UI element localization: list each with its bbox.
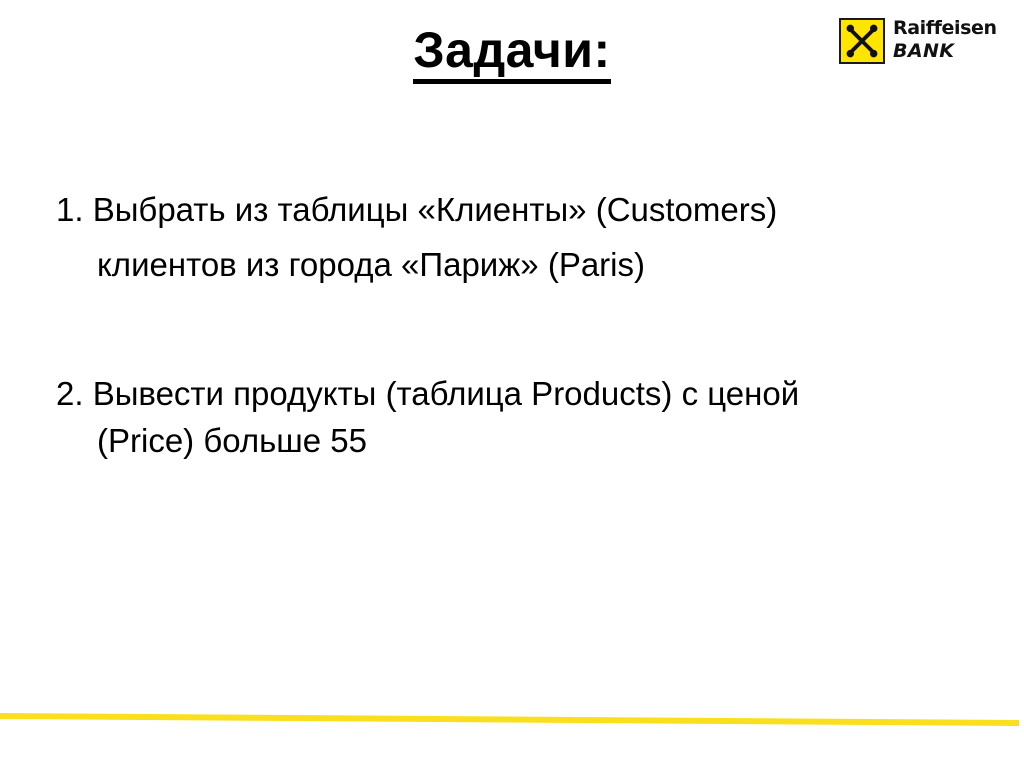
slide-body: 1. Выбрать из таблицы «Клиенты» (Custome… (0, 182, 1024, 464)
task-item-2: 2. Вывести продукты (таблица Products) с… (56, 370, 1024, 464)
raiffeisen-bank-logo: Raiffeisen BANK (839, 16, 1011, 66)
task-1-line-2: клиентов из города «Париж» (Paris) (56, 237, 1024, 292)
logo-name-text: Raiffeisen (893, 16, 1013, 40)
task-2-line-2: (Price) больше 55 (56, 417, 1024, 464)
page-title: Задачи: (413, 22, 610, 84)
yellow-divider-line (0, 700, 1024, 740)
logo-wordmark: Raiffeisen BANK (893, 16, 1013, 63)
logo-sub-text: BANK (893, 40, 1013, 63)
slide-canvas: Задачи: Raiffeisen BANK 1. Выбрать из та… (0, 0, 1024, 767)
task-1-line-1: 1. Выбрать из таблицы «Клиенты» (Custome… (56, 182, 1024, 237)
task-2-line-1: 2. Вывести продукты (таблица Products) с… (56, 370, 1024, 417)
raiffeisen-gable-cross-icon (839, 18, 885, 64)
task-item-1: 1. Выбрать из таблицы «Клиенты» (Custome… (56, 182, 1024, 292)
